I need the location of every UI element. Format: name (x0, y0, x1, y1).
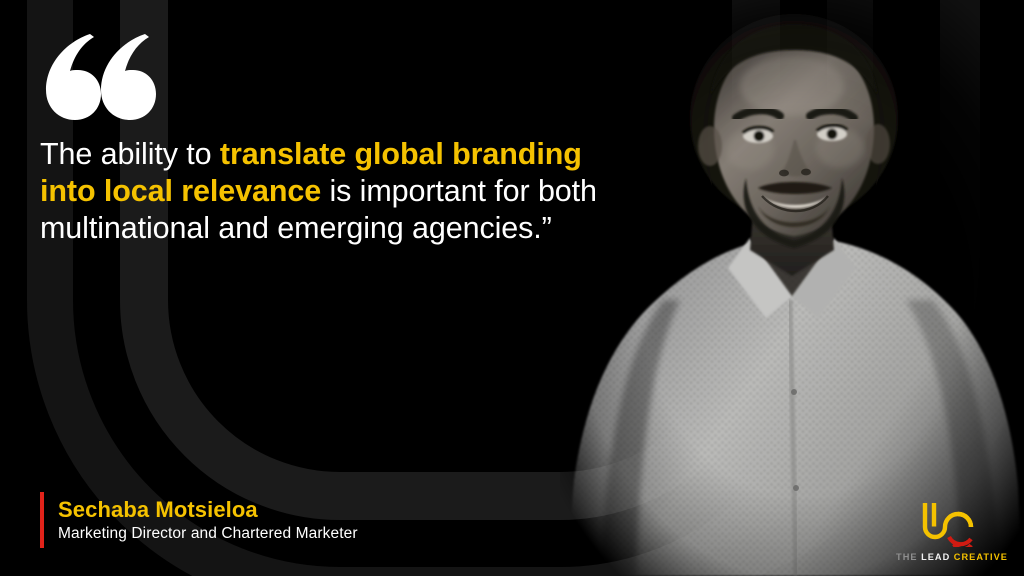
motif-stroke-inner (144, 0, 756, 496)
portrait-photo (560, 0, 1024, 576)
brand-logo[interactable]: THE LEAD CREATIVE (896, 501, 1008, 562)
logo-wordmark: THE LEAD CREATIVE (896, 552, 1008, 562)
quote-text: The ability to translate global branding… (40, 136, 640, 247)
nose (782, 140, 810, 177)
moustache (758, 182, 832, 194)
logo-word-lead: LEAD (921, 552, 950, 562)
attribution-block: Sechaba Motsieloa Marketing Director and… (40, 492, 358, 548)
motif-stroke-outer (50, 0, 850, 576)
logo-word-creative: CREATIVE (954, 552, 1008, 562)
lc-monogram-icon (918, 501, 986, 547)
neck (750, 178, 834, 276)
quote-mark-icon (44, 30, 156, 122)
eyes (743, 126, 847, 143)
quote-line2-highlight-text: into local relevance (40, 174, 321, 208)
beard (744, 178, 845, 248)
mouth (762, 196, 828, 208)
quote-line3-plain: multinational and emerging agencies.” (40, 211, 552, 245)
shirt-collar (728, 238, 792, 318)
quote-line1-plain: The ability to (40, 137, 220, 171)
quote-card: The ability to translate global branding… (0, 0, 1024, 576)
quote-line2-plain: is important for both (321, 174, 597, 208)
quote-line1-highlight: translate global branding (220, 137, 582, 171)
face (714, 38, 874, 236)
motif-stroke-edge (700, 0, 960, 573)
eyebrow-right (810, 110, 854, 118)
author-name: Sechaba Motsieloa (58, 496, 358, 523)
author-role: Marketing Director and Chartered Markete… (58, 523, 358, 544)
logo-word-the: THE (896, 552, 918, 562)
eyebrow-left (736, 110, 780, 118)
hair (690, 14, 898, 222)
